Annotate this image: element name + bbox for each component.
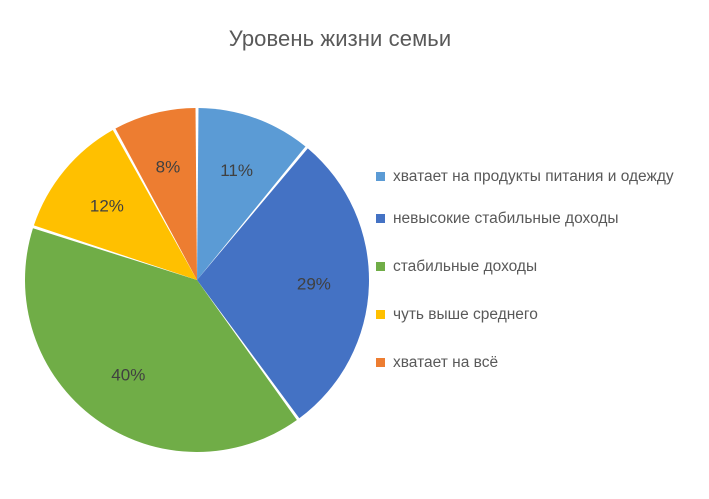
legend-item-label: чуть выше среднего xyxy=(393,304,538,326)
pie-slice-label: 29% xyxy=(297,275,331,294)
pie-plot-area: 11%29%40%12%8% xyxy=(0,88,400,478)
legend-swatch-icon xyxy=(376,172,385,181)
legend-swatch-icon xyxy=(376,358,385,367)
legend-item[interactable]: хватает на всё xyxy=(376,352,694,374)
legend-item-label: хватает на всё xyxy=(393,352,498,374)
pie-chart: Уровень жизни семьи 11%29%40%12%8% хвата… xyxy=(0,0,709,499)
pie-svg: 11%29%40%12%8% xyxy=(0,88,400,478)
legend-item[interactable]: хватает на продукты питания и одежду xyxy=(376,166,694,188)
pie-slice-label: 12% xyxy=(90,196,124,215)
legend-item-label: стабильные доходы xyxy=(393,256,537,278)
chart-title: Уровень жизни семьи xyxy=(0,26,680,52)
pie-slice-label: 11% xyxy=(220,161,253,180)
legend-swatch-icon xyxy=(376,310,385,319)
legend-item-label: хватает на продукты питания и одежду xyxy=(393,166,674,188)
legend-item[interactable]: невысокие стабильные доходы xyxy=(376,208,694,230)
legend-item-label: невысокие стабильные доходы xyxy=(393,208,619,230)
pie-slice-label: 40% xyxy=(111,366,145,385)
legend-swatch-icon xyxy=(376,214,385,223)
pie-slice-label: 8% xyxy=(156,158,181,177)
chart-legend: хватает на продукты питания и одеждуневы… xyxy=(376,166,694,400)
legend-item[interactable]: стабильные доходы xyxy=(376,256,694,278)
legend-swatch-icon xyxy=(376,262,385,271)
legend-item[interactable]: чуть выше среднего xyxy=(376,304,694,326)
